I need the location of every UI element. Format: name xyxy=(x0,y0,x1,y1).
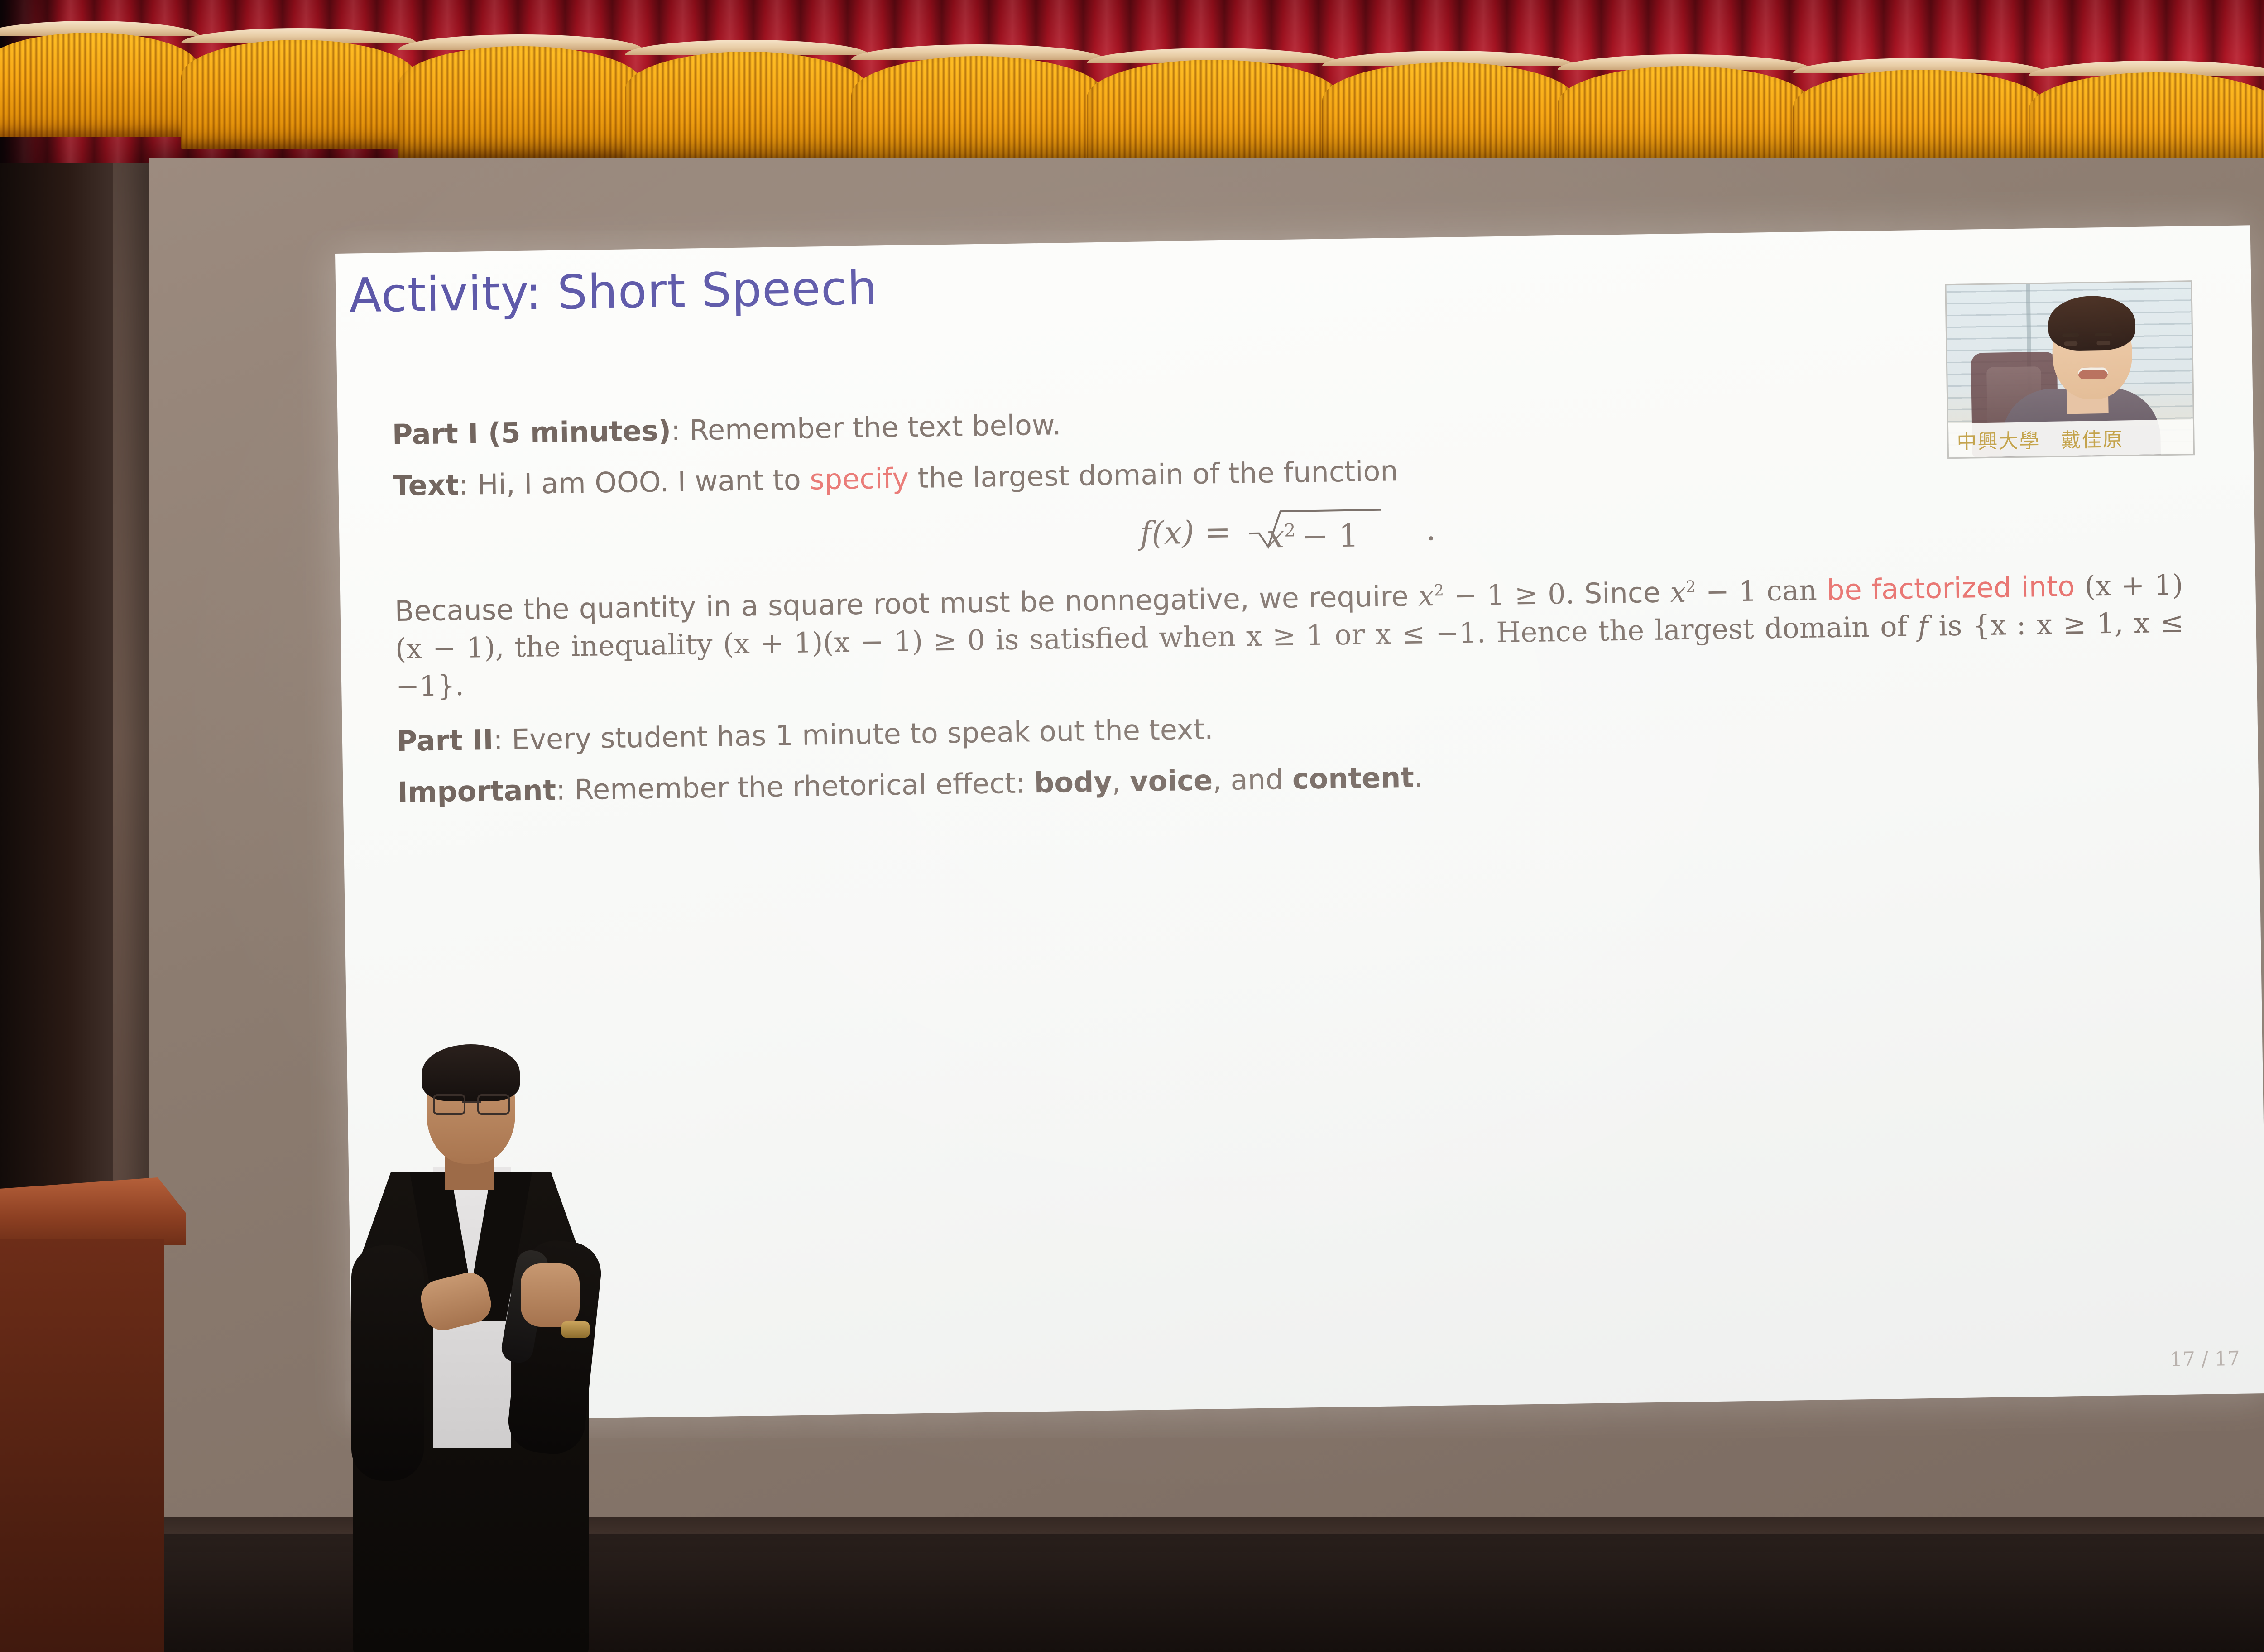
formula-period: . xyxy=(1425,510,1436,547)
slide-title: Activity: Short Speech xyxy=(349,262,878,322)
slide-page-number: 17 / 17 xyxy=(2170,1347,2240,1371)
important-bold-voice: voice xyxy=(1130,764,1213,798)
student-hair xyxy=(2048,295,2136,351)
para-highlight-factorized: be factorized into xyxy=(1827,570,2075,606)
text-line: Text: Hi, I am OOO. I want to specify th… xyxy=(393,441,2182,505)
student-eye-left xyxy=(2064,341,2077,346)
formula-lhs: f(x) = xyxy=(1140,514,1231,552)
para-line3-a: satisfied when x ≥ 1 or x ≤ −1. Hence th… xyxy=(1029,610,1918,656)
para-line2-exponent: 2 xyxy=(1686,578,1696,596)
para-line2-a: Since xyxy=(1584,576,1670,610)
important-sep-2: , and xyxy=(1213,763,1293,797)
text-highlight-specify: specify xyxy=(810,461,909,496)
para-line3-f: f xyxy=(1918,610,1928,643)
part1-line: Part I (5 minutes): Remember the text be… xyxy=(392,389,2181,454)
part1-rest: : Remember the text below. xyxy=(671,408,1062,447)
wristwatch xyxy=(561,1321,590,1338)
formula-radicand: x xyxy=(1266,518,1285,556)
important-bold-content: content xyxy=(1292,761,1414,796)
part2-label: Part II xyxy=(396,723,494,758)
student-eyebrow-left xyxy=(2062,333,2079,337)
displayed-formula: f(x) = x2− 1 . xyxy=(393,494,2182,574)
valance-scallop xyxy=(181,28,417,164)
lectern-body xyxy=(0,1239,164,1652)
presenter-hair xyxy=(422,1044,520,1101)
important-sep-1: , xyxy=(1112,765,1130,798)
student-eyebrow-right xyxy=(2095,333,2112,337)
presenter-arm-left xyxy=(351,1245,424,1481)
webcam-pip: 中興大學 戴佳原 xyxy=(1945,280,2195,459)
part2-line: Part II: Every student has 1 minute to s… xyxy=(396,696,2185,760)
para-line1-b: − 1 ≥ 0. xyxy=(1444,577,1575,612)
student-mouth xyxy=(2078,367,2108,379)
para-line2-b: − 1 can xyxy=(1696,573,1827,608)
presentation-slide: Activity: Short Speech Part I (5 minutes… xyxy=(335,225,2264,1421)
presenter-figure xyxy=(326,1051,616,1652)
important-bold-body: body xyxy=(1034,765,1112,800)
slide-body: Part I (5 minutes): Remember the text be… xyxy=(392,389,2186,825)
para-line1-exponent: 2 xyxy=(1434,581,1444,600)
lectern-top xyxy=(0,1177,186,1245)
part2-rest: : Every student has 1 minute to speak ou… xyxy=(493,713,1214,757)
formula-exponent: 2 xyxy=(1284,520,1296,541)
lectern xyxy=(0,1177,186,1652)
explanation-paragraph: Because the quantity in a square root mu… xyxy=(394,566,2184,705)
important-segment-a: : Remember the rhetorical effect: xyxy=(556,766,1035,807)
student-eye-right xyxy=(2096,341,2110,345)
para-line2-math-x: x xyxy=(1670,576,1686,609)
slide-title-text: Activity: Short Speech xyxy=(349,260,878,323)
text-label: Text xyxy=(393,468,459,502)
para-line1-math-x: x xyxy=(1418,579,1434,613)
important-end-period: . xyxy=(1414,761,1423,794)
webcam-caption: 中興大學 戴佳原 xyxy=(1948,419,2195,457)
eyeglasses-icon xyxy=(433,1094,510,1112)
photo-scene: Activity: Short Speech Part I (5 minutes… xyxy=(0,0,2264,1652)
formula-minus-one: − 1 xyxy=(1302,517,1359,555)
important-label: Important xyxy=(397,773,556,809)
important-line: Important: Remember the rhetorical effec… xyxy=(397,747,2186,812)
text-segment-a: : Hi, I am OOO. I want to xyxy=(459,463,810,501)
valance-scallop xyxy=(0,21,199,157)
text-segment-b: the largest domain of the function xyxy=(908,454,1398,495)
part1-label: Part I (5 minutes) xyxy=(392,414,671,451)
presenter-hand-right xyxy=(521,1263,580,1327)
